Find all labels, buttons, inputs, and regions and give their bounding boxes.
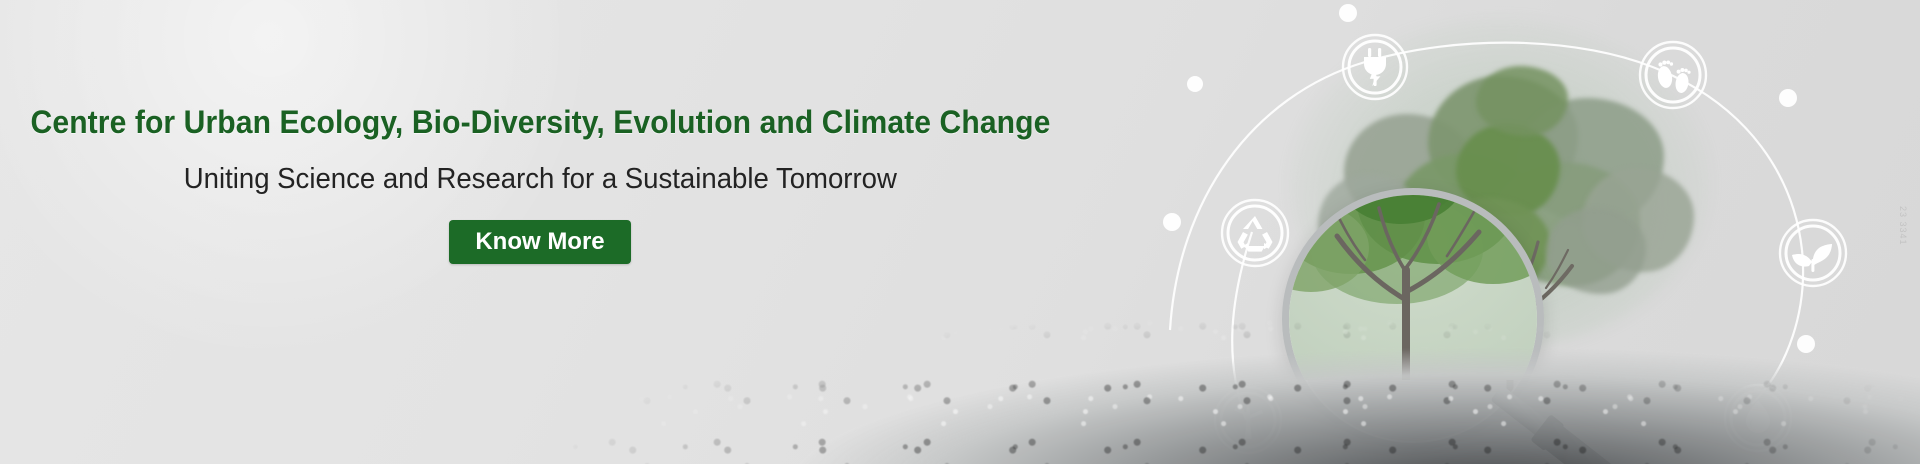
sprout-icon [1780,220,1846,286]
know-more-button[interactable]: Know More [449,220,630,264]
banner-content: Centre for Urban Ecology, Bio-Diversity,… [0,0,1080,464]
image-watermark: 23 3341 [1898,206,1908,246]
banner-subtitle: Uniting Science and Research for a Susta… [183,163,896,196]
page-title: Centre for Urban Ecology, Bio-Diversity,… [30,104,1050,141]
magnifier-handle [1487,381,1638,464]
water-drop-icon [1725,385,1791,451]
hero-image [1160,0,1920,464]
magnifying-glass [1264,180,1644,464]
magnified-foliage [1282,188,1544,380]
hero-banner: Centre for Urban Ecology, Bio-Diversity,… [0,0,1920,464]
